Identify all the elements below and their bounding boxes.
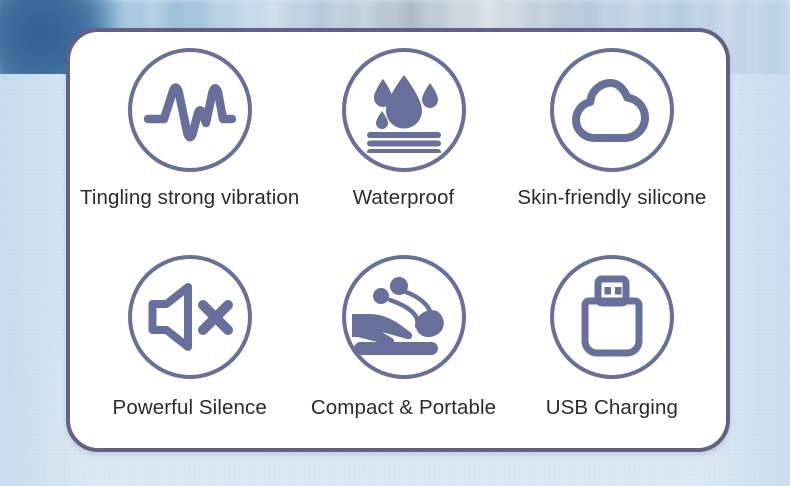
- icon-circle: [342, 255, 466, 379]
- waveform-icon: [142, 75, 238, 145]
- feature-label: Waterproof: [353, 186, 455, 210]
- feature-item-powerful-silence: Powerful Silence: [80, 243, 299, 438]
- feature-item-compact-portable: Compact & Portable: [299, 243, 507, 438]
- icon-circle: [128, 255, 252, 379]
- icon-circle: [128, 48, 252, 172]
- feature-item-waterproof: Waterproof: [299, 48, 507, 243]
- icon-circle: [550, 48, 674, 172]
- feature-card: Tingling strong vibration: [66, 28, 730, 452]
- feature-label: Skin-friendly silicone: [517, 186, 706, 210]
- feature-label: Tingling strong vibration: [80, 186, 299, 210]
- water-droplets-icon: [358, 67, 450, 153]
- feature-label: Compact & Portable: [311, 396, 496, 420]
- feature-item-usb-charging: USB Charging: [508, 243, 716, 438]
- feature-label: USB Charging: [546, 396, 678, 420]
- icon-circle: [550, 255, 674, 379]
- infographic-stage: Tingling strong vibration: [0, 0, 790, 486]
- feature-label: Powerful Silence: [113, 396, 267, 420]
- cloud-icon: [567, 74, 657, 146]
- speaker-mute-icon: [144, 280, 236, 354]
- feature-grid: Tingling strong vibration: [70, 32, 726, 448]
- icon-circle: [342, 48, 466, 172]
- usb-drive-icon: [576, 275, 648, 359]
- feature-item-tingling-strong-vibration: Tingling strong vibration: [80, 48, 299, 243]
- feature-item-skin-friendly-silicone: Skin-friendly silicone: [508, 48, 716, 243]
- hand-holding-product-icon: [352, 274, 456, 360]
